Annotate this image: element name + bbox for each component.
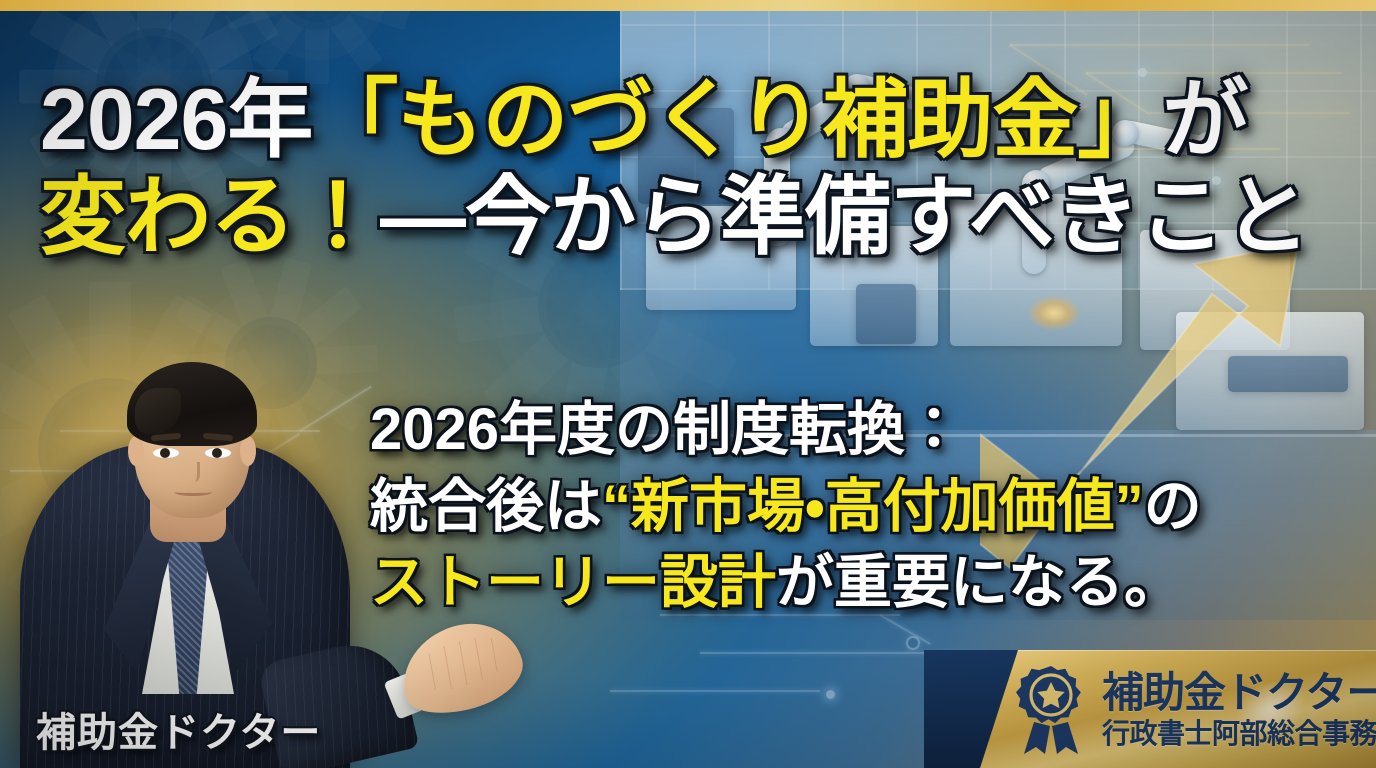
subheadline: 2026年度の制度転換： 統合後は“新市場・高付加価値”の ストーリー設計が重要…	[370, 392, 1370, 622]
headline-l2-seg1: 変わる！	[40, 169, 380, 265]
headline: 2026年「ものづくり補助金」が 変わる！―今から準備すべきこと	[40, 72, 1350, 266]
subhead-l2-seg3: の	[1144, 474, 1202, 539]
presenter-mouth	[174, 488, 212, 496]
subhead-l2-seg2: “新市場・高付加価値”	[602, 474, 1144, 539]
top-gold-bar	[0, 0, 1376, 11]
headline-l1-seg1: 2026年	[40, 72, 312, 168]
presenter-photo	[0, 298, 422, 768]
headline-line-1: 2026年「ものづくり補助金」が	[40, 72, 1350, 169]
logo-main-text: 補助金ドクター	[1102, 672, 1376, 714]
award-rosette-icon	[1012, 664, 1090, 756]
subhead-line-2: 統合後は“新市場・高付加価値”の	[370, 469, 1370, 546]
subhead-l3-seg1: ストーリー設計	[370, 550, 776, 615]
headline-l1-seg2: 「ものづくり補助金」	[312, 72, 1162, 168]
subhead-line-3: ストーリー設計が重要になる。	[370, 545, 1370, 622]
presenter-head	[134, 372, 250, 518]
presenter-eye	[153, 448, 179, 458]
headline-l1-seg3: が	[1162, 72, 1247, 168]
presenter-ear	[240, 436, 256, 466]
headline-line-2: 変わる！―今から準備すべきこと	[40, 169, 1350, 266]
subhead-l1-seg1: 2026年度の制度転換：	[370, 397, 963, 462]
subhead-l2-seg1: 統合後は	[370, 474, 602, 539]
logo-sub-text: 行政書士阿部総合事務所	[1102, 720, 1376, 748]
thumbnail-canvas: 2026年「ものづくり補助金」が 変わる！―今から準備すべきこと 2026年度の…	[0, 0, 1376, 768]
presenter-nose	[186, 462, 200, 482]
subhead-line-1: 2026年度の制度転換：	[370, 392, 1370, 469]
presenter-eye	[205, 448, 231, 458]
headline-l2-seg2: ―今から準備すべきこと	[380, 169, 1309, 265]
brand-logo-badge: 補助金ドクター 行政書士阿部総合事務所	[924, 650, 1376, 768]
subhead-l3-seg2: が重要になる。	[776, 550, 1182, 615]
presenter-byline: 補助金ドクター	[36, 700, 321, 758]
